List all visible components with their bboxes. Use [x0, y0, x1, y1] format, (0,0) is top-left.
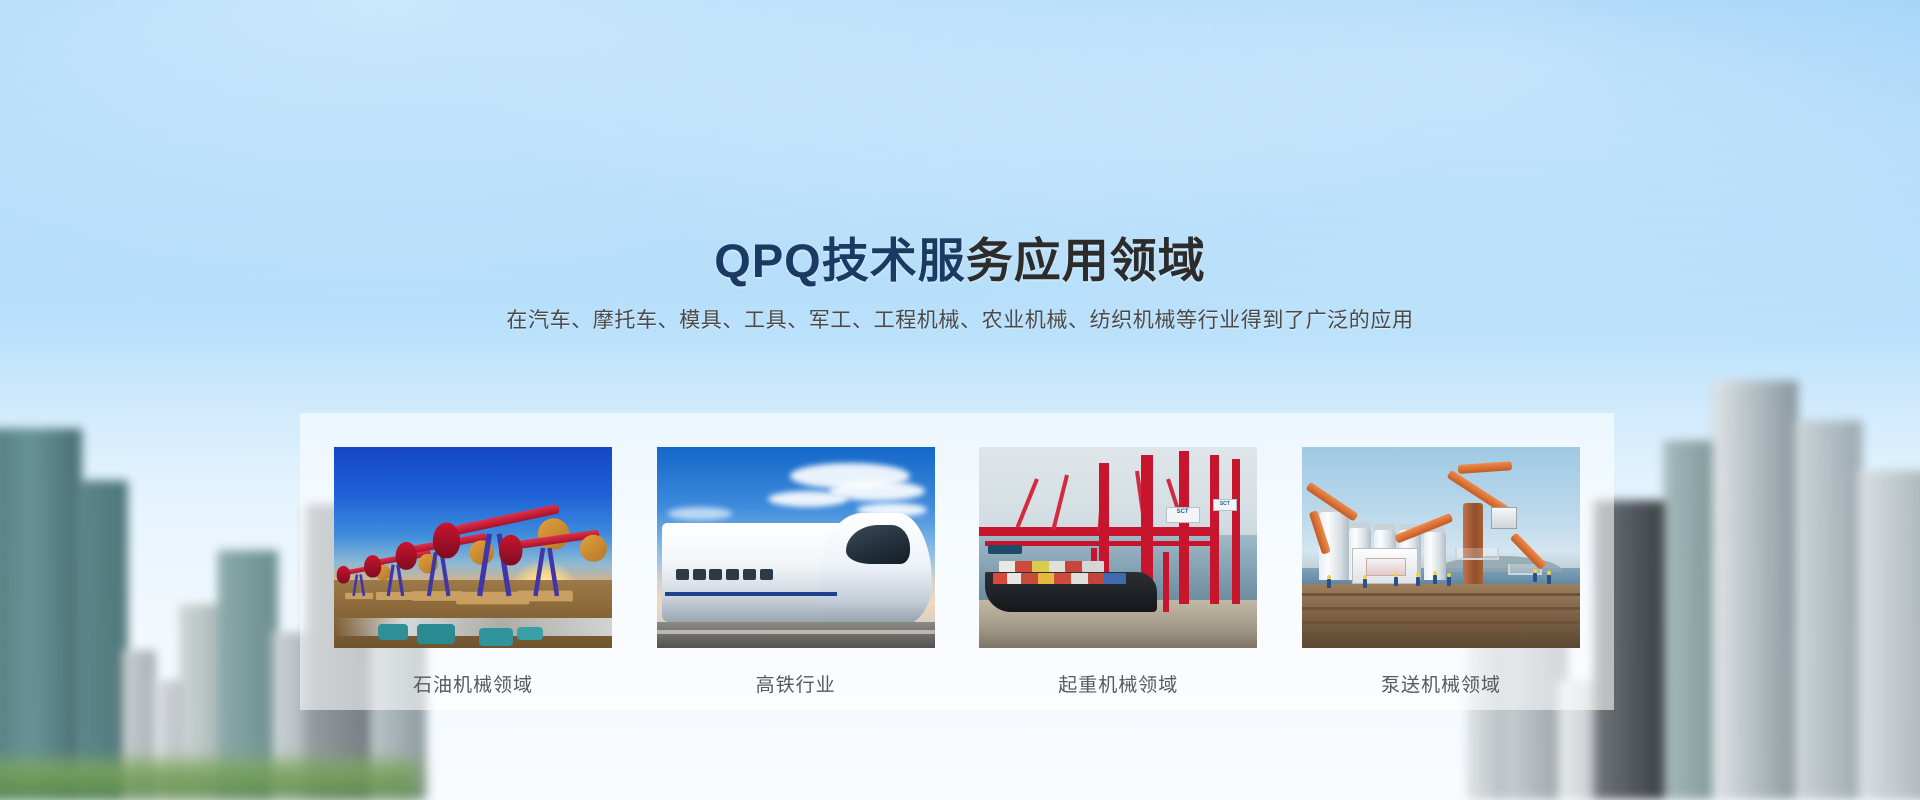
card-oil-machinery[interactable]: 石油机械领域 [334, 447, 612, 710]
page-title-dark-part: 务应用领域 [966, 234, 1206, 287]
crane-brand-sign: SCT [1213, 499, 1237, 511]
oil-pumpjacks-sunset-photo[interactable] [334, 447, 612, 648]
crane-brand-sign: SCT [1166, 507, 1200, 523]
card-label: 石油机械领域 [413, 670, 533, 697]
page-title-navy-part: QPQ技术服 [714, 234, 965, 287]
operator-cabin [1491, 507, 1517, 529]
tree-line [0, 760, 420, 800]
hero-headings: QPQ技术服务应用领域 在汽车、摩托车、模具、工具、军工、工程机械、农业机械、纺… [0, 236, 1920, 336]
card-lifting-machinery[interactable]: SCT SCT 起重机械领域 [979, 447, 1257, 710]
concrete-pump-silos-photo[interactable] [1302, 447, 1580, 648]
application-fields-panel: 石油机械领域 高铁行业 [300, 413, 1614, 710]
card-pumping-machinery[interactable]: 泵送机械领域 [1302, 447, 1580, 710]
page-title: QPQ技术服务应用领域 [0, 236, 1920, 285]
card-high-speed-rail[interactable]: 高铁行业 [657, 447, 935, 710]
high-speed-train-crh-photo[interactable] [657, 447, 935, 648]
card-label: 起重机械领域 [1058, 670, 1178, 697]
card-label: 高铁行业 [756, 670, 836, 697]
card-label: 泵送机械领域 [1381, 670, 1501, 697]
page-subtitle: 在汽车、摩托车、模具、工具、军工、工程机械、农业机械、纺织机械等行业得到了广泛的… [0, 306, 1920, 335]
port-gantry-cranes-containers-photo[interactable]: SCT SCT [979, 447, 1257, 648]
